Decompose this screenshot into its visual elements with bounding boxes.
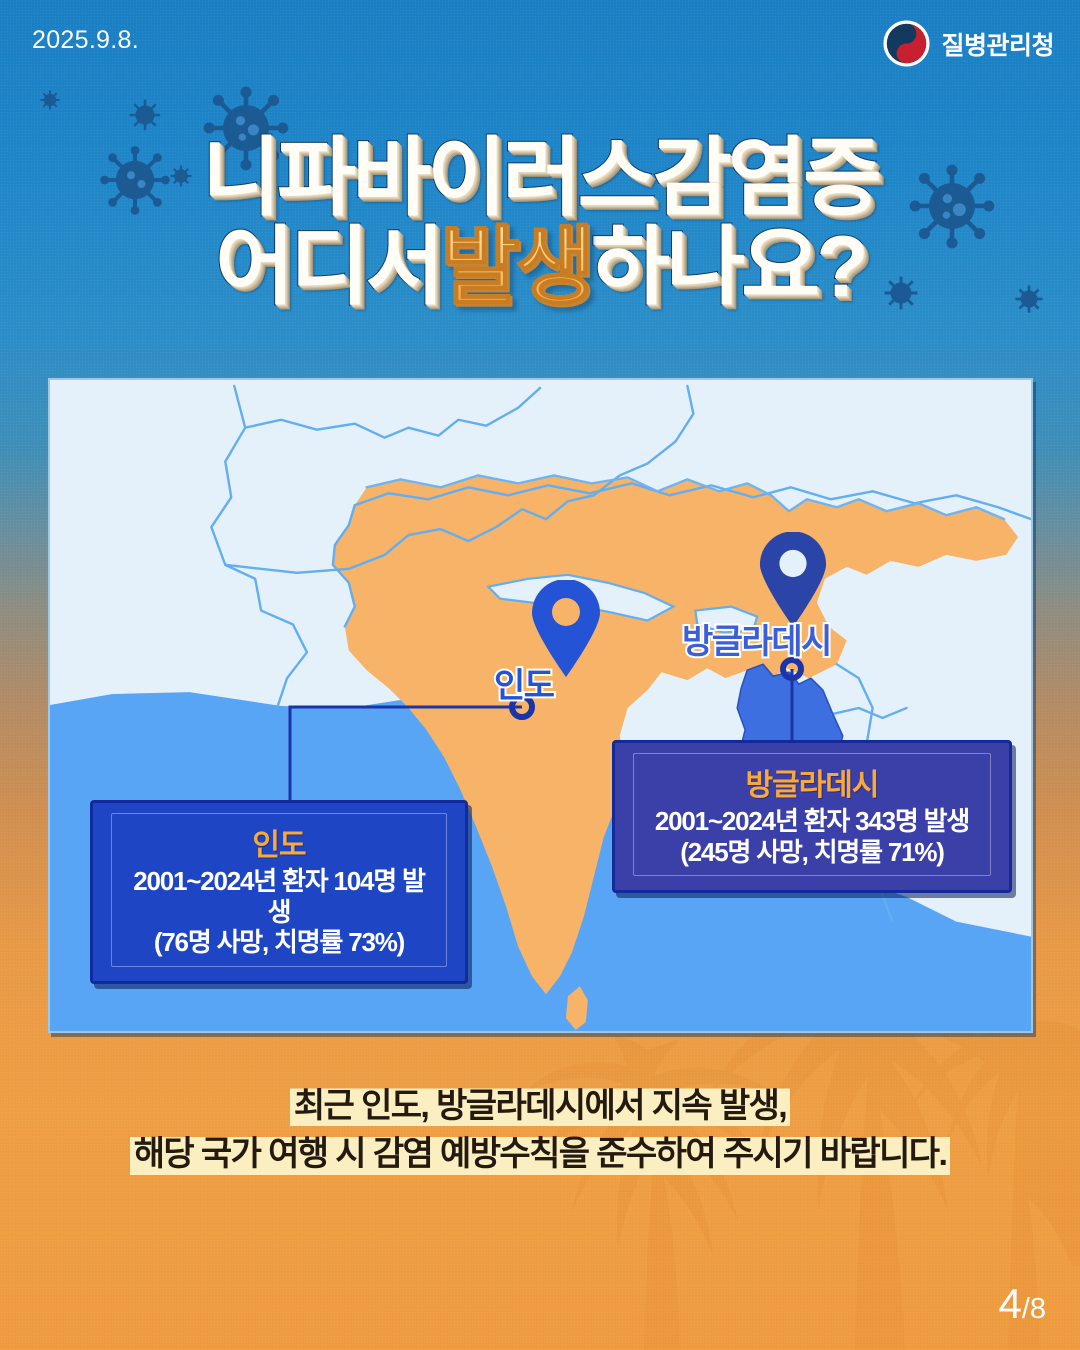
callout-india: 인도 2001~2024년 환자 104명 발생 (76명 사망, 치명률 73… [90, 800, 468, 984]
page-indicator: 4/8 [998, 1280, 1046, 1328]
callout-bangladesh-country: 방글라데시 [644, 760, 980, 804]
advisory-line-2: 해당 국가 여행 시 감염 예방수칙을 준수하여 주시기 바랍니다. [130, 1130, 951, 1178]
virus-particle-small-icon [125, 95, 165, 135]
taegeuk-logo-icon [883, 20, 930, 67]
callout-india-deaths: (76명 사망, 치명률 73%) [122, 927, 436, 958]
advisory-line-1: 최근 인도, 방글라데시에서 지속 발생, [290, 1082, 790, 1130]
map-label-bangladesh: 방글라데시 [682, 614, 831, 663]
virus-particle-tiny-icon [38, 88, 62, 112]
map-label-india: 인도 [494, 658, 554, 707]
page-total: /8 [1022, 1293, 1046, 1326]
kdca-logo: 질병관리청 [883, 20, 1054, 67]
title-highlight: 발생 [441, 225, 591, 310]
page-current: 4 [998, 1280, 1021, 1328]
publish-date: 2025.9.8. [32, 26, 139, 55]
page-title: 니파바이러스감염증 어디서 발생하나요? [0, 136, 1080, 310]
title-line-1: 니파바이러스감염증 [202, 136, 878, 221]
callout-india-country: 인도 [122, 820, 436, 864]
callout-india-cases: 2001~2024년 환자 104명 발생 [122, 866, 436, 927]
callout-bangladesh-cases: 2001~2024년 환자 343명 발생 [644, 806, 980, 837]
agency-name: 질병관리청 [941, 26, 1054, 62]
callout-bangladesh-deaths: (245명 사망, 치명률 71%) [644, 837, 980, 868]
title-line-2-suffix: 하나요? [591, 225, 865, 310]
title-line-2-prefix: 어디서 [215, 225, 440, 310]
callout-bangladesh: 방글라데시 2001~2024년 환자 343명 발생 (245명 사망, 치명… [612, 740, 1012, 893]
advisory-message: 최근 인도, 방글라데시에서 지속 발생, 해당 국가 여행 시 감염 예방수칙… [0, 1082, 1080, 1179]
